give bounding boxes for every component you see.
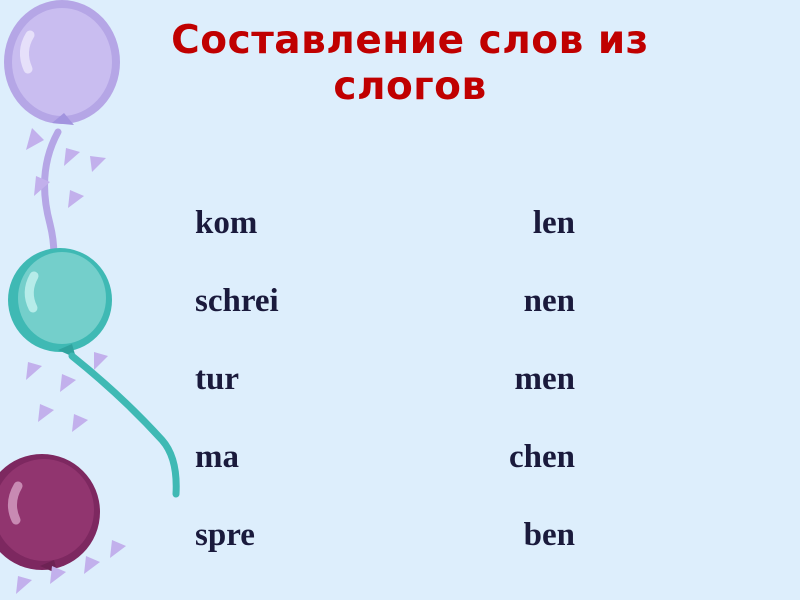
- sparkle-rays-top: [26, 128, 106, 208]
- syllable-row: schrei nen: [195, 283, 575, 361]
- syllable-right: men: [390, 361, 575, 398]
- syllable-left: kom: [195, 205, 390, 242]
- syllable-left: ma: [195, 439, 390, 476]
- balloon-magenta-bottom: [0, 454, 100, 574]
- syllable-right: nen: [390, 283, 575, 320]
- syllable-row: kom len: [195, 205, 575, 283]
- syllable-left: tur: [195, 361, 390, 398]
- syllable-left: spre: [195, 517, 390, 554]
- syllable-row: ma chen: [195, 439, 575, 517]
- sparkle-rays-middle: [26, 352, 108, 432]
- syllable-right: len: [390, 205, 575, 242]
- syllable-right: chen: [390, 439, 575, 476]
- syllable-table: kom len schrei nen tur men ma chen spre …: [195, 205, 575, 595]
- syllable-row: spre ben: [195, 517, 575, 595]
- syllable-right: ben: [390, 517, 575, 554]
- slide-canvas: Составление слов из слогов kom len schre…: [0, 0, 800, 600]
- syllable-row: tur men: [195, 361, 575, 439]
- slide-title: Составление слов из слогов: [100, 18, 720, 109]
- syllable-left: schrei: [195, 283, 390, 320]
